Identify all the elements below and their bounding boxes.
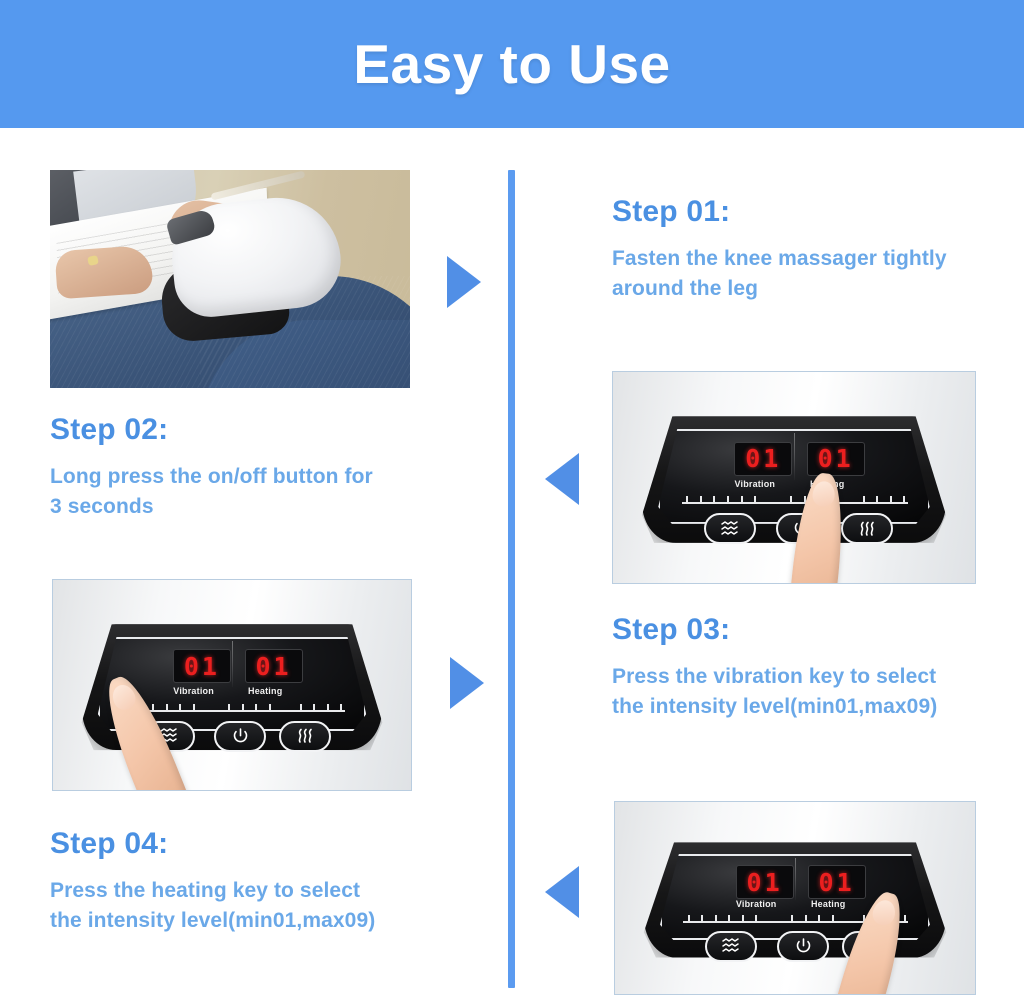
scale-tick: [313, 704, 315, 710]
heating-button[interactable]: [841, 513, 893, 544]
control-panel-scene: 01 Vibration 01 Heating: [613, 372, 975, 583]
heating-display-label: Heating: [793, 899, 863, 909]
panel-photo-step-02: 01 Vibration 01 Heating: [52, 579, 412, 791]
flow-arrow-left-icon: [545, 453, 579, 505]
scale-tick: [269, 704, 271, 710]
panel-center-divider: [232, 641, 233, 687]
scale-tick: [715, 915, 717, 921]
vibration-display-label: Vibration: [721, 899, 791, 909]
scale-tick: [805, 915, 807, 921]
step-03-text-block: Step 03: Press the vibration key to sele…: [612, 613, 1012, 723]
scale-tick: [727, 496, 729, 502]
step-01-body: Fasten the knee massager tightly around …: [612, 244, 1012, 305]
page-title: Easy to Use: [353, 37, 670, 92]
step-02-body: Long press the on/off button for 3 secon…: [50, 462, 450, 523]
vibration-waves-icon: [719, 521, 741, 537]
step-03-title-label: Step 03: [612, 613, 720, 646]
scale-tick: [818, 915, 820, 921]
fingernail: [811, 481, 835, 508]
step-01-title-label: Step 01: [612, 195, 720, 228]
scale-tick: [904, 915, 906, 921]
heating-waves-icon: [295, 728, 315, 744]
step-02-text-block: Step 02: Long press the on/off button fo…: [50, 413, 450, 523]
vibration-display-label: Vibration: [720, 479, 790, 489]
step-04-title: Step 04:: [50, 827, 450, 860]
scale-tick: [152, 704, 154, 710]
scale-tick: [903, 496, 905, 502]
scale-tick: [193, 704, 195, 710]
scale-tick: [166, 704, 168, 710]
scale-tick: [790, 496, 792, 502]
intensity-scale: [682, 495, 908, 504]
scale-tick: [876, 496, 878, 502]
step-04-title-label: Step 04: [50, 827, 158, 860]
step-03-title-colon: :: [720, 613, 730, 646]
vibration-waves-icon: [720, 938, 742, 954]
step-02-title-colon: :: [158, 413, 168, 446]
scale-tick: [742, 915, 744, 921]
person-hand-left: [54, 245, 153, 300]
heating-display-label: Heating: [230, 686, 300, 696]
power-icon: [232, 728, 249, 745]
scale-baseline: [682, 502, 908, 504]
heating-level-display: 01: [245, 649, 303, 683]
step-02-title: Step 02:: [50, 413, 450, 446]
scale-tick: [688, 915, 690, 921]
heating-button[interactable]: [279, 721, 331, 752]
vibration-level-value: 01: [184, 654, 220, 679]
power-icon: [795, 938, 812, 955]
step-04-body: Press the heating key to select the inte…: [50, 876, 450, 937]
vibration-level-value: 01: [745, 446, 781, 471]
fingernail: [870, 898, 898, 928]
vibration-level-display: 01: [736, 865, 794, 899]
panel-photo-step-04: 01 Vibration 01 Heating: [614, 801, 976, 995]
lifestyle-scene: [50, 170, 410, 388]
scale-tick: [700, 496, 702, 502]
scale-tick: [686, 496, 688, 502]
power-button[interactable]: [214, 721, 266, 752]
scale-tick: [242, 704, 244, 710]
flow-arrow-left-icon: [545, 866, 579, 918]
scale-tick: [728, 915, 730, 921]
power-button[interactable]: [777, 931, 829, 962]
scale-tick: [863, 496, 865, 502]
scale-tick: [255, 704, 257, 710]
step-01-text-block: Step 01: Fasten the knee massager tightl…: [612, 195, 1012, 305]
control-panel-scene: 01 Vibration 01 Heating: [615, 802, 975, 994]
scale-tick: [713, 496, 715, 502]
step-01-title: Step 01:: [612, 195, 1012, 228]
scale-tick: [890, 496, 892, 502]
scale-tick: [832, 915, 834, 921]
intensity-scale: [121, 703, 345, 712]
scale-tick: [179, 704, 181, 710]
flow-arrow-right-icon: [447, 256, 481, 308]
scale-tick: [754, 496, 756, 502]
lifestyle-photo: [50, 170, 410, 388]
heating-level-display: 01: [808, 865, 866, 899]
heating-level-value: 01: [818, 446, 854, 471]
scale-tick: [701, 915, 703, 921]
scale-tick: [228, 704, 230, 710]
scale-tick: [791, 915, 793, 921]
heating-level-value: 01: [819, 870, 855, 895]
control-panel-scene: 01 Vibration 01 Heating: [53, 580, 411, 790]
step-03-body: Press the vibration key to select the in…: [612, 662, 1012, 723]
step-04-text-block: Step 04: Press the heating key to select…: [50, 827, 450, 937]
vibration-display-label: Vibration: [159, 686, 229, 696]
panel-photo-step-01: 01 Vibration 01 Heating: [612, 371, 976, 584]
scale-tick: [340, 704, 342, 710]
vibration-level-display: 01: [734, 442, 792, 476]
panel-center-divider: [794, 433, 795, 479]
step-02-title-label: Step 02: [50, 413, 158, 446]
page-header-banner: Easy to Use: [0, 0, 1024, 128]
scale-tick: [741, 496, 743, 502]
panel-center-divider: [795, 858, 796, 900]
vibration-level-value: 01: [747, 870, 783, 895]
heating-level-display: 01: [807, 442, 865, 476]
fingernail: [109, 682, 139, 713]
vibration-button[interactable]: [704, 513, 756, 544]
scale-tick: [755, 915, 757, 921]
heating-level-value: 01: [255, 654, 291, 679]
step-01-title-colon: :: [720, 195, 730, 228]
step-03-title: Step 03:: [612, 613, 1012, 646]
vibration-level-display: 01: [173, 649, 231, 683]
step-04-title-colon: :: [158, 827, 168, 860]
flow-arrow-right-icon: [450, 657, 484, 709]
scale-baseline: [121, 710, 345, 712]
vibration-button[interactable]: [705, 931, 757, 962]
scale-tick: [327, 704, 329, 710]
scale-tick: [300, 704, 302, 710]
heating-waves-icon: [857, 521, 877, 537]
vertical-divider: [508, 170, 515, 988]
